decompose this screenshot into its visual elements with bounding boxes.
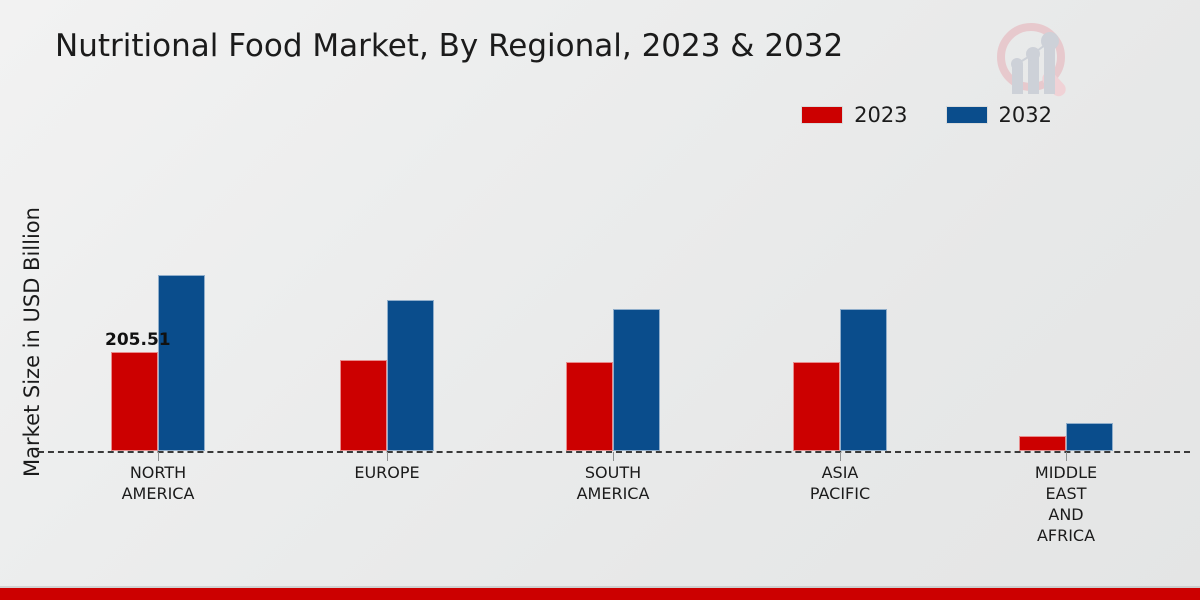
x-label-europe: EUROPE <box>292 462 482 483</box>
bar-2023-europe[interactable] <box>340 360 387 451</box>
x-tick-asia-pacific <box>840 452 841 461</box>
bar-2023-middle-east-and-africa[interactable] <box>1019 436 1066 451</box>
bar-2032-middle-east-and-africa[interactable] <box>1066 423 1113 451</box>
x-label-line: AMERICA <box>63 483 253 504</box>
bar-group-north-america: 205.51 <box>111 151 207 451</box>
chart-page: Nutritional Food Market, By Regional, 20… <box>0 0 1200 600</box>
x-tick-north-america <box>158 452 159 461</box>
bar-2023-north-america[interactable] <box>111 352 158 451</box>
x-label-line: SOUTH <box>518 462 708 483</box>
x-tick-south-america <box>613 452 614 461</box>
x-label-asia-pacific: ASIA PACIFIC <box>745 462 935 504</box>
bar-group-asia-pacific <box>793 151 889 451</box>
x-label-line: ASIA <box>745 462 935 483</box>
bar-2023-south-america[interactable] <box>566 362 613 451</box>
x-label-line: PACIFIC <box>745 483 935 504</box>
x-label-line: EUROPE <box>292 462 482 483</box>
bar-2032-north-america[interactable] <box>158 275 205 451</box>
x-label-line: AFRICA <box>971 525 1161 546</box>
bar-2032-asia-pacific[interactable] <box>840 309 887 451</box>
bar-2032-europe[interactable] <box>387 300 434 451</box>
bar-group-europe <box>340 151 436 451</box>
bottom-accent-band <box>0 588 1200 600</box>
bar-group-middle-east-and-africa <box>1019 151 1115 451</box>
x-label-south-america: SOUTH AMERICA <box>518 462 708 504</box>
x-label-middle-east-and-africa: MIDDLE EAST AND AFRICA <box>971 462 1161 546</box>
plot-area: 205.51 NORTH AMERICA EUROPE SOUTH <box>0 0 1200 600</box>
x-label-line: AMERICA <box>518 483 708 504</box>
bar-group-south-america <box>566 151 662 451</box>
bar-value-label-north-america-2023: 205.51 <box>105 330 171 350</box>
x-tick-europe <box>387 452 388 461</box>
x-label-line: NORTH <box>63 462 253 483</box>
x-label-north-america: NORTH AMERICA <box>63 462 253 504</box>
x-label-line: EAST <box>971 483 1161 504</box>
x-label-line: MIDDLE <box>971 462 1161 483</box>
x-axis-baseline <box>38 451 1190 453</box>
x-tick-middle-east-and-africa <box>1066 452 1067 461</box>
bar-2023-asia-pacific[interactable] <box>793 362 840 451</box>
x-label-line: AND <box>971 504 1161 525</box>
bar-2032-south-america[interactable] <box>613 309 660 451</box>
